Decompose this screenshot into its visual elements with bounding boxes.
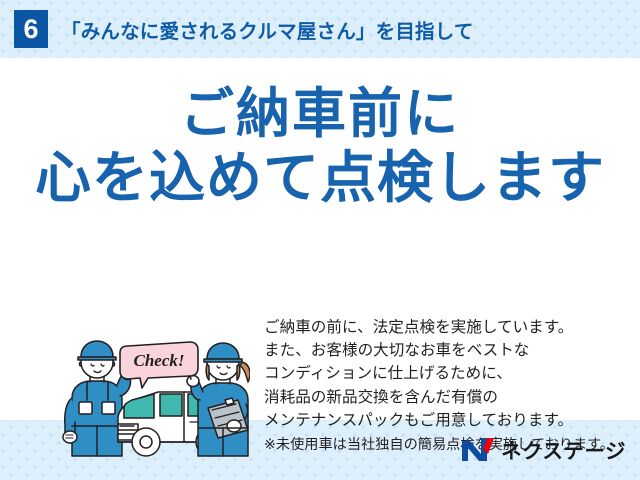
footer-bar: ネクステージ xyxy=(0,420,640,480)
headline-line-1: ご納車前に xyxy=(0,84,640,146)
body-line-2: また、お客様の大切なお車をベストな xyxy=(264,339,624,362)
nextage-logo: ネクステージ xyxy=(461,434,626,464)
brand-name: ネクステージ xyxy=(501,434,626,464)
body-line-3: コンディションに仕上げるために、 xyxy=(264,362,624,385)
headline-line-2: 心を込めて点検します xyxy=(0,146,640,210)
main-panel: ご納車前に 心を込めて点検します xyxy=(0,58,640,420)
speech-bubble-label: Check! xyxy=(134,351,185,370)
section-number-badge: 6 xyxy=(14,10,48,48)
headline: ご納車前に 心を込めて点検します xyxy=(0,84,640,209)
body-line-4: 消耗品の新品交換を含んだ有償の xyxy=(264,386,624,409)
header-bar: 6 「みんなに愛されるクルマ屋さん」を目指して xyxy=(0,0,640,58)
nextage-n-mark xyxy=(461,437,495,462)
body-line-1: ご納車の前に、法定点検を実施しています。 xyxy=(264,316,624,339)
advertisement-page: 6 「みんなに愛されるクルマ屋さん」を目指して ご納車前に 心を込めて点検します xyxy=(0,0,640,480)
header-title: 「みんなに愛されるクルマ屋さん」を目指して xyxy=(61,15,474,44)
